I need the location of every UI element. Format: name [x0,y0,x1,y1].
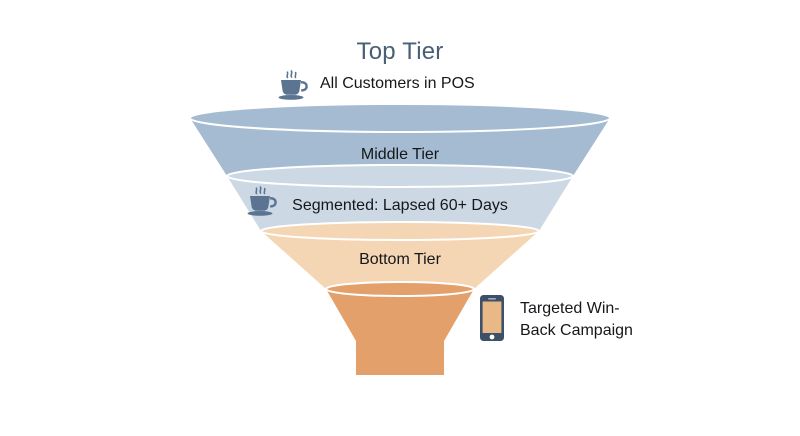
callout-win-back: Targeted Win- Back Campaign [478,294,633,342]
coffee-cup-icon [241,182,281,218]
funnel-diagram-canvas: Top Tier Middle [0,0,800,436]
coffee-cup-icon [272,66,312,102]
mobile-phone-icon [478,294,506,342]
band-label-bottom-tier: Bottom Tier [0,251,800,269]
callout-win-back-label: Targeted Win- Back Campaign [520,294,633,341]
band-label-segmented: Segmented: Lapsed 60+ Days [0,197,800,215]
callout-win-back-line1: Targeted Win- [520,300,620,317]
band-label-middle-tier: Middle Tier [0,146,800,164]
callout-all-customers: All Customers in POS [272,66,475,102]
funnel-band-4 [326,282,474,375]
callout-win-back-line2: Back Campaign [520,320,633,342]
callout-all-customers-label: All Customers in POS [320,74,475,93]
callout-segmented-cup [241,182,281,218]
